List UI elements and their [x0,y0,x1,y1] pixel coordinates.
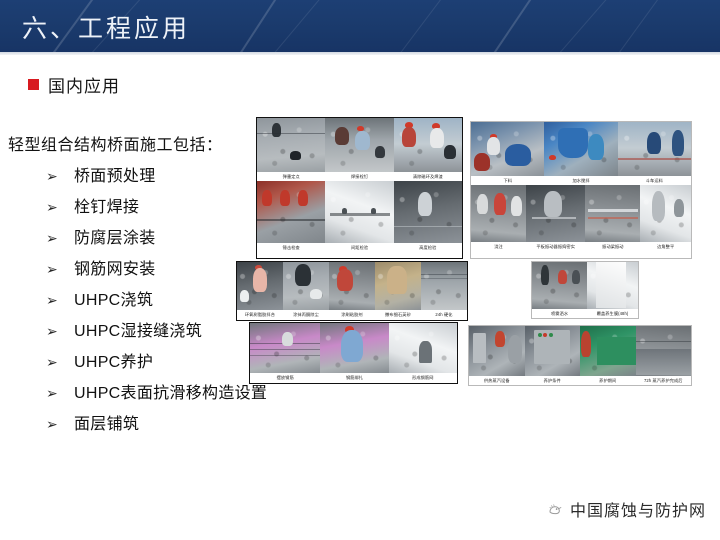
header-diagonal-line [472,0,558,52]
photo-caption: 高度检验 [394,243,462,252]
caption-row: 锤击检查 间距检验 高度检验 [257,243,462,252]
photo-cell [329,262,375,310]
photo-caption: 下料 [471,176,544,185]
photo-panel-anticorrosion: 环氧树脂胶拌合 涂抹丙酮除尘 涂刷粘胶剂 撒布细石英砂 24h 硬化 [236,261,468,321]
photo-cell [471,185,526,242]
photo-material-feeding [471,122,544,176]
list-item-label: UHPC湿接缝浇筑 [74,317,202,341]
photo-water-spraying [532,262,587,309]
footer-accent-line [640,523,641,540]
arrow-bullet-icon: ➢ [46,355,74,371]
photo-edge-leveling [640,185,691,242]
photo-cell [471,122,544,176]
list-item-label: 钢筋网安装 [74,255,156,279]
photo-cell [544,122,617,176]
photo-water-mixing [544,122,617,176]
caption-row: 喷雾洒水 覆盖养生膜(48h) [532,309,638,318]
arrow-bullet-icon: ➢ [46,169,74,185]
photo-caption: 钢筋绑扎 [320,373,388,382]
photo-caption: 锤击检查 [257,243,325,252]
photo-caption: 养护条件 [525,376,581,385]
photo-caption: 间距检验 [325,243,393,252]
photo-caption: 涂抹丙酮除尘 [283,310,329,319]
photo-marking-points [257,118,325,172]
photo-caption: 振动梁振动 [585,242,640,251]
photo-cell [421,262,467,310]
photo-caption: 覆盖养生膜(48h) [587,309,638,318]
photo-row [532,262,638,309]
photo-row [469,326,691,376]
arrow-bullet-icon: ➢ [46,293,74,309]
photo-cell [325,181,393,243]
photo-rebar-tying [320,323,388,373]
photo-curing-conditions [525,326,581,376]
list-item-label: 栓钉焊接 [74,193,139,217]
photo-curing-membrane [587,262,638,309]
caption-row: 环氧树脂胶拌合 涂抹丙酮除尘 涂刷粘胶剂 撒布细石英砂 24h 硬化 [237,310,467,319]
footer-accent-line [500,523,501,540]
photo-pouring [471,185,526,242]
list-item-label: 面层铺筑 [74,410,139,434]
photo-panel-stud-welding: 弹墨定点 焊接栓钉 清除磁环及焊渣 [256,117,463,259]
photo-cell [525,326,581,376]
photo-quartz-sand-spreading [375,262,421,310]
photo-row [250,323,457,373]
photo-caption: 撒布细石英砂 [375,310,421,319]
photo-cell [580,326,636,376]
list-item-label: 桥面预处理 [74,162,156,186]
caption-row: 供热蒸汽设备 养护条件 养护期间 72h 蒸汽养护完成后 [469,376,691,385]
header-diagonal-line [218,0,301,52]
arrow-bullet-icon: ➢ [46,200,74,216]
list-item-label: 防腐层涂装 [74,224,156,248]
photo-cell [469,326,525,376]
photo-caption: 弹墨定点 [257,172,325,181]
photo-cell [394,181,462,243]
list-item: ➢ 面层铺筑 [46,410,326,441]
photo-row [257,181,462,243]
photo-cart-transport [618,122,691,176]
photo-panel-rebar-mesh: 摆放钢筋 钢筋绑扎 形成钢筋网 [249,322,458,384]
photo-after-72h-steam-curing [636,326,692,376]
header-diagonal-line [598,0,687,52]
page-title: 六、工程应用 [22,9,190,45]
photo-caption: 加水搅拌 [544,176,617,185]
list-item-label: UHPC浇筑 [74,286,153,310]
header-diagonal-line [380,0,471,52]
photo-row [237,262,467,310]
photo-plate-vibrator [526,185,585,242]
slide-footer [0,523,720,540]
footer-accent-line [168,523,169,540]
photo-cell [325,118,393,172]
photo-caption: 24h 硬化 [421,310,467,319]
photo-24h-hardening [421,262,467,310]
photo-caption: 环氧树脂胶拌合 [237,310,283,319]
photo-spacing-inspection [325,181,393,243]
photo-caption: 养护期间 [580,376,636,385]
photo-cell [640,185,691,242]
photo-removing-ferrules [394,118,462,172]
photo-cell [320,323,388,373]
photo-caption: 供热蒸汽设备 [469,376,525,385]
photo-caption: 清除磁环及焊渣 [394,172,462,181]
photo-cell [283,262,329,310]
photo-cell [237,262,283,310]
section-heading: 国内应用 [28,72,120,97]
footer-accent-line [70,523,71,540]
photo-panel-water-curing: 喷雾洒水 覆盖养生膜(48h) [531,261,639,319]
photo-hammer-test [257,181,325,243]
photo-cell [250,323,320,373]
arrow-bullet-icon: ➢ [46,231,74,247]
photo-cell [257,181,325,243]
caption-row: 弹墨定点 焊接栓钉 清除磁环及焊渣 [257,172,462,181]
photo-cell [526,185,585,242]
photo-rebar-placement [250,323,320,373]
photo-row [471,185,691,242]
photo-caption: 浇注 [471,242,526,251]
photo-caption: 形成钢筋网 [389,373,457,382]
photo-caption: 斗车运料 [618,176,691,185]
square-bullet-icon [28,79,39,90]
watermark: 中国腐蚀与防护网 [547,497,706,521]
photo-caption: 边角整平 [640,242,691,251]
photo-row [471,122,691,176]
footer-accent-line [390,523,391,540]
arrow-bullet-icon: ➢ [46,324,74,340]
header-divider [0,52,720,55]
photo-curing-period [580,326,636,376]
section-heading-label: 国内应用 [48,72,120,97]
photo-panel-steam-curing: 供热蒸汽设备 养护条件 养护期间 72h 蒸汽养护完成后 [468,325,692,386]
photo-caption: 喷雾洒水 [532,309,587,318]
photo-cell [587,262,638,309]
photo-caption: 摆放钢筋 [250,373,320,382]
photo-caption: 涂刷粘胶剂 [329,310,375,319]
slide-header: 六、工程应用 [0,0,720,52]
photo-finished-rebar-mesh [389,323,457,373]
arrow-bullet-icon: ➢ [46,386,74,402]
photo-adhesive-brushing [329,262,375,310]
photo-caption: 72h 蒸汽养护完成后 [636,376,692,385]
arrow-bullet-icon: ➢ [46,417,74,433]
photo-cell [636,326,692,376]
list-intro-text: 轻型组合结构桥面施工包括： [8,131,223,155]
list-item-label: UHPC表面抗滑移构造设置 [74,379,267,403]
photo-cell [394,118,462,172]
photo-cell [585,185,640,242]
photo-caption: 焊接栓钉 [325,172,393,181]
caption-row: 摆放钢筋 钢筋绑扎 形成钢筋网 [250,373,457,382]
photo-welding-studs [325,118,393,172]
arrow-bullet-icon: ➢ [46,262,74,278]
photo-row [257,118,462,172]
photo-cell [375,262,421,310]
photo-caption: 平板振动器振捣密实 [526,242,585,251]
photo-cell [532,262,587,309]
photo-cell [389,323,457,373]
photo-cell [257,118,325,172]
photo-beam-vibration [585,185,640,242]
photo-epoxy-mixing [237,262,283,310]
watermark-label: 中国腐蚀与防护网 [570,497,706,521]
header-diagonal-line [542,0,641,52]
photo-steam-equipment [469,326,525,376]
list-item-label: UHPC养护 [74,348,153,372]
caption-row: 下料 加水搅拌 斗车运料 [471,176,691,185]
photo-panel-uhpc-mixing: 下料 加水搅拌 斗车运料 [470,121,692,259]
photo-cell [618,122,691,176]
bird-logo-icon [547,501,564,518]
caption-row: 浇注 平板振动器振捣密实 振动梁振动 边角整平 [471,242,691,251]
photo-height-inspection [394,181,462,243]
photo-acetone-dedusting [283,262,329,310]
